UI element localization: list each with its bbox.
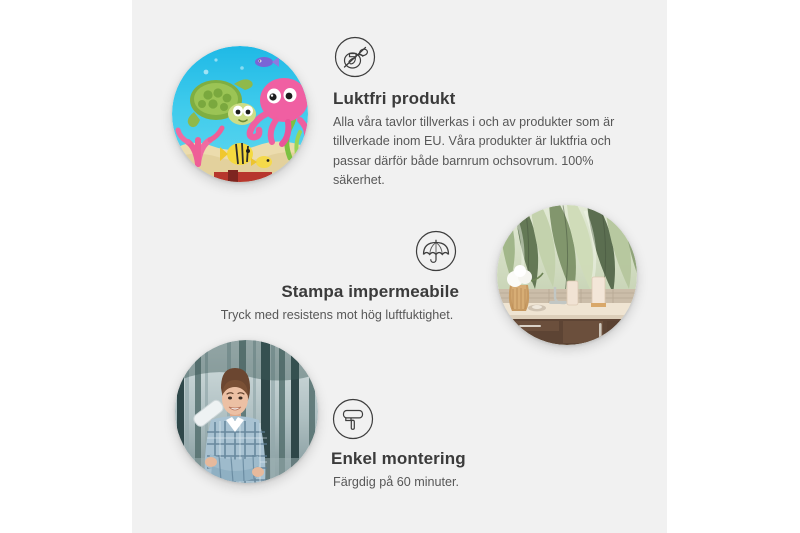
feature-odour-free: Luktfri produkt Alla våra tavlor tillver… [333, 36, 638, 190]
feature-icon-row [331, 398, 591, 440]
product-photo-decorator[interactable] [175, 340, 318, 483]
feature-body: Färgdig på 60 minuter. [331, 473, 591, 492]
feature-body: Alla våra tavlor tillverkas i och av pro… [333, 113, 638, 190]
product-photo-sea-life[interactable] [172, 46, 308, 182]
feature-body: Tryck med resistens mot hög luftfuktighe… [213, 306, 461, 325]
feature-title: Enkel montering [331, 448, 591, 469]
no-fragrance-spray-icon [334, 36, 376, 78]
feature-title: Luktfri produkt [333, 88, 638, 109]
feature-title: Stampa impermeabile [213, 281, 461, 302]
feature-banner: Luktfri produkt Alla våra tavlor tillver… [0, 0, 800, 533]
umbrella-icon [415, 230, 457, 272]
paint-roller-icon [332, 398, 374, 440]
feature-waterproof: Stampa impermeabile Tryck med resistens … [213, 230, 461, 325]
product-photo-bathroom[interactable] [497, 205, 637, 345]
feature-icon-row [213, 230, 461, 272]
feature-easy-mounting: Enkel montering Färgdig på 60 minuter. [331, 398, 591, 492]
